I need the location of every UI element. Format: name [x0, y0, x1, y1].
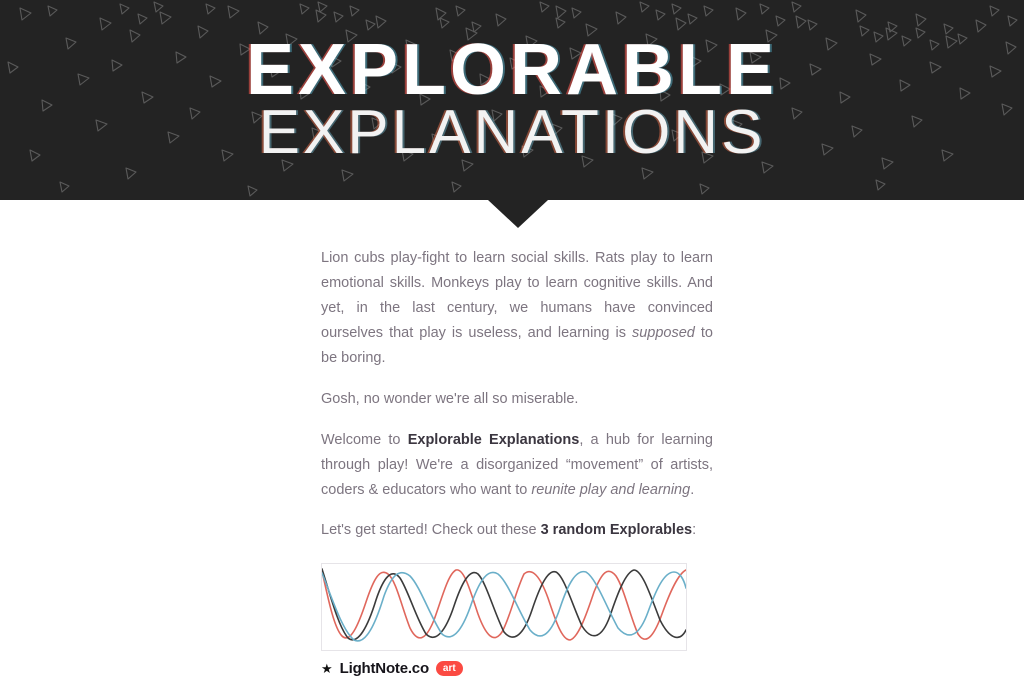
category-badge[interactable]: art — [436, 661, 463, 676]
page-title-sub: EXPLANATIONS — [259, 101, 766, 164]
header-title-block: EXPLORABLE EXPLANATIONS — [0, 0, 1024, 200]
star-icon: ★ — [321, 662, 333, 675]
intro-p3-italic: reunite play and learning — [531, 482, 690, 498]
header-notch-icon — [488, 200, 548, 228]
intro-paragraph-4: Let's get started! Check out these 3 ran… — [321, 518, 713, 543]
sine-waves-thumbnail[interactable] — [321, 563, 687, 651]
intro-p4-bold: 3 random Explorables — [541, 522, 693, 538]
intro-p1-italic: supposed — [632, 325, 695, 341]
intro-p3-bold: Explorable Explanations — [408, 432, 580, 448]
intro-p3-c: . — [690, 482, 694, 498]
site-header: EXPLORABLE EXPLANATIONS — [0, 0, 1024, 200]
content-column: Lion cubs play-fight to learn social ski… — [321, 246, 713, 680]
intro-p4-b: : — [692, 522, 696, 538]
explorable-title[interactable]: LightNote.co — [340, 660, 429, 677]
intro-paragraph-3: Welcome to Explorable Explanations, a hu… — [321, 428, 713, 503]
intro-paragraph-2: Gosh, no wonder we're all so miserable. — [321, 387, 713, 412]
intro-p4-a: Let's get started! Check out these — [321, 522, 541, 538]
explorable-title-row[interactable]: ★ LightNote.co art — [321, 660, 713, 677]
main-content: Lion cubs play-fight to learn social ski… — [0, 200, 1024, 680]
explorable-item-lightnote[interactable]: ★ LightNote.co art a playful introductio… — [321, 563, 713, 680]
page-title-main: EXPLORABLE — [246, 36, 778, 105]
intro-paragraph-1: Lion cubs play-fight to learn social ski… — [321, 246, 713, 371]
intro-p3-a: Welcome to — [321, 432, 408, 448]
